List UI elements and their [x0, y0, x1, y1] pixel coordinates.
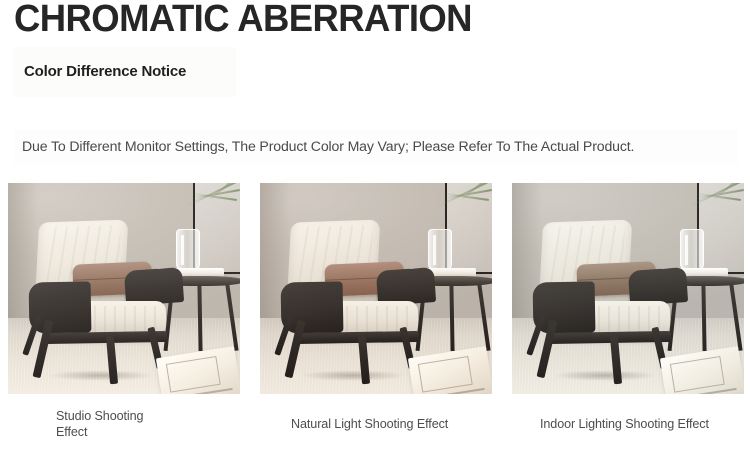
subtitle-text: Color Difference Notice: [24, 63, 186, 81]
subtitle-panel: Color Difference Notice: [14, 47, 236, 97]
caption-natural-light-shooting-effect: Natural Light Shooting Effect: [291, 416, 491, 432]
product-photo-studio[interactable]: [8, 183, 240, 394]
room-scene: [8, 183, 240, 394]
table-leg: [729, 284, 742, 351]
table-leg: [198, 284, 203, 351]
color-variance-notice: Due To Different Monitor Settings, The P…: [22, 138, 634, 156]
chair-shadow: [29, 368, 173, 382]
room-scene: [512, 183, 744, 394]
page-title: CHROMATIC ABERRATION: [14, 0, 472, 40]
table-leg: [477, 284, 490, 351]
caption-studio-shooting-effect: Studio Shooting Effect: [56, 408, 176, 440]
table-leg: [702, 284, 707, 351]
chromatic-aberration-banner: CHROMATIC ABERRATION Color Difference No…: [0, 0, 750, 470]
product-photo-natural-light[interactable]: [260, 183, 492, 394]
chair-shadow: [281, 368, 425, 382]
room-scene: [260, 183, 492, 394]
caption-indoor-lighting-shooting-effect: Indoor Lighting Shooting Effect: [540, 416, 740, 432]
table-leg: [225, 284, 238, 351]
chair-shadow: [533, 368, 677, 382]
product-photo-indoor-lighting[interactable]: [512, 183, 744, 394]
table-leg: [450, 284, 455, 351]
notice-panel: Due To Different Monitor Settings, The P…: [14, 130, 738, 164]
product-image-gallery: [0, 183, 750, 395]
